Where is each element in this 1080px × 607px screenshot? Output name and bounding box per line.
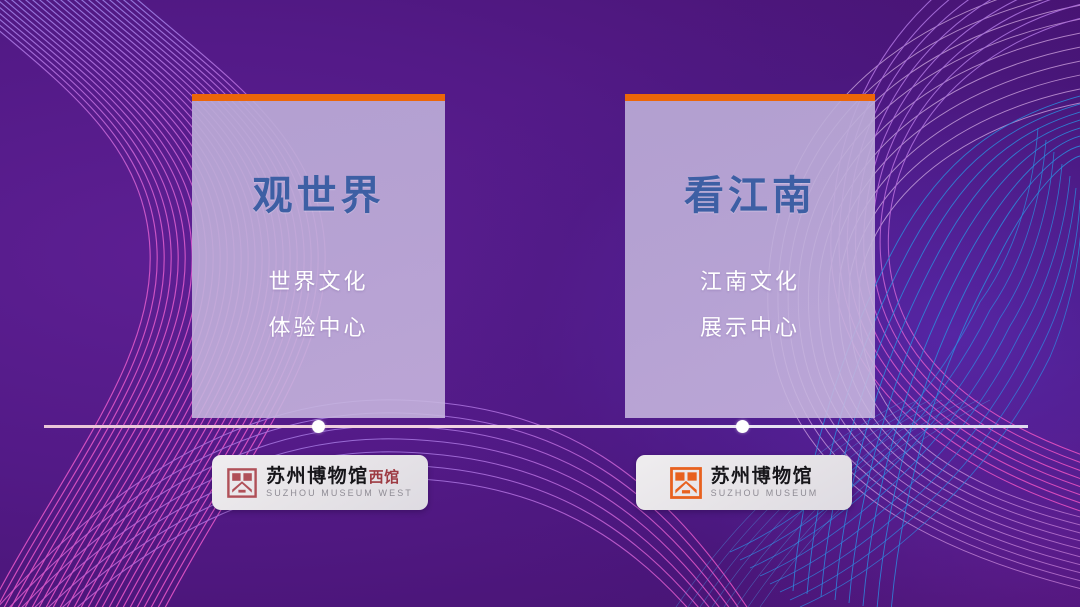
timeline-dot-left — [312, 420, 325, 433]
badge-text-block: 苏州博物馆 SUZHOU MUSEUM — [711, 467, 819, 498]
badge-suzhou-museum-west[interactable]: 苏州博物馆西馆 SUZHOU MUSEUM WEST — [212, 455, 428, 510]
badge-name-en: SUZHOU MUSEUM WEST — [266, 489, 413, 498]
suzhou-museum-logo-icon — [670, 467, 702, 499]
badge-suzhou-museum[interactable]: 苏州博物馆 SUZHOU MUSEUM — [636, 455, 852, 510]
decorative-line-art — [0, 0, 1080, 607]
timeline-dot-right — [736, 420, 749, 433]
badge-name-cn-suffix: 西馆 — [369, 470, 400, 486]
presentation-slide: 观世界 世界文化 体验中心 看江南 江南文化 展示中心 — [0, 0, 1080, 607]
suzhou-museum-west-logo-icon — [227, 468, 257, 498]
card-kan-jiang-nan[interactable]: 看江南 江南文化 展示中心 — [625, 101, 875, 418]
card-title: 观世界 — [253, 163, 385, 221]
badge-name-en: SUZHOU MUSEUM — [711, 489, 819, 498]
card-subtitle-line: 江南文化 — [700, 271, 800, 293]
badge-name-cn: 苏州博物馆 — [711, 467, 814, 486]
card-guan-shi-jie[interactable]: 观世界 世界文化 体验中心 — [192, 101, 445, 418]
timeline-rule — [44, 425, 1028, 428]
card-subtitle-line: 世界文化 — [268, 271, 368, 293]
badge-name-cn: 苏州博物馆西馆 — [266, 467, 400, 486]
card-title: 看江南 — [684, 163, 816, 221]
card-subtitle-line: 体验中心 — [268, 317, 368, 339]
badge-text-block: 苏州博物馆西馆 SUZHOU MUSEUM WEST — [266, 467, 413, 498]
card-subtitle-line: 展示中心 — [700, 317, 800, 339]
card-accent-bar — [625, 94, 875, 101]
card-accent-bar — [192, 94, 445, 101]
